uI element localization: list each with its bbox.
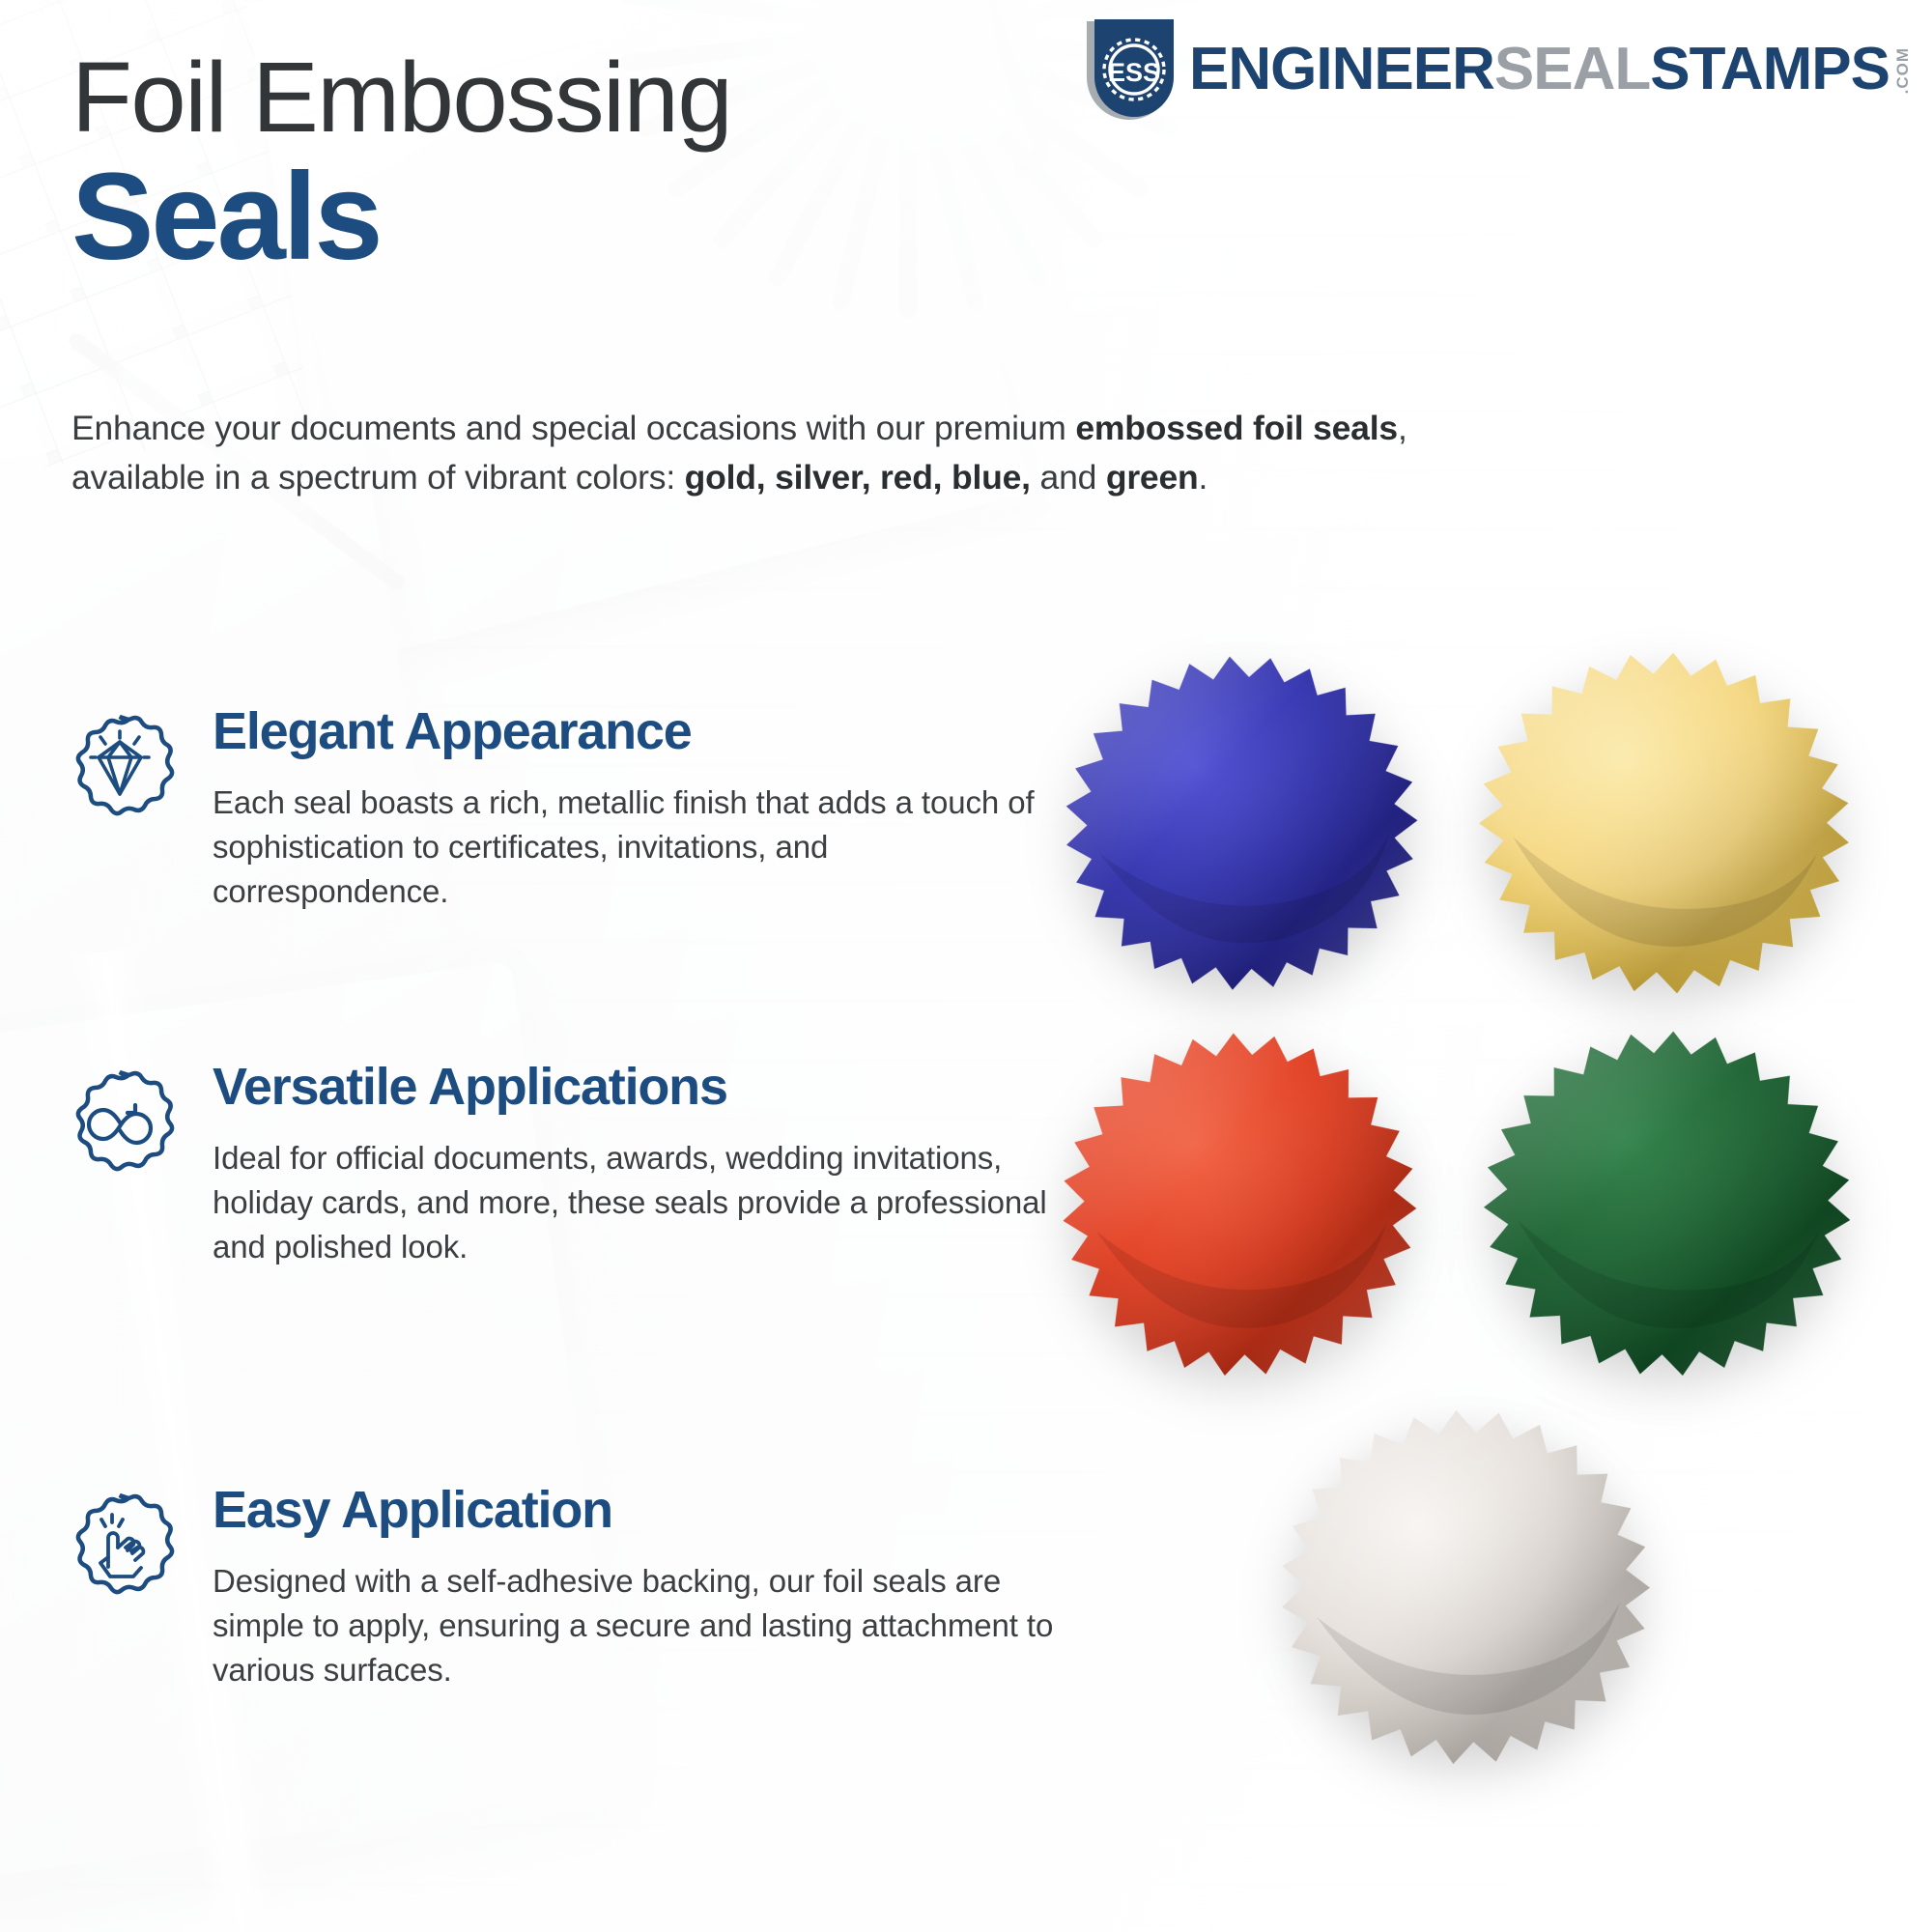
seal-green <box>1470 1017 1865 1390</box>
feature-elegant-appearance: Elegant Appearance Each seal boasts a ri… <box>62 703 1063 914</box>
feature-easy-application: Easy Application Designed with a self-ad… <box>62 1482 1063 1692</box>
subtitle: Enhance your documents and special occas… <box>71 404 1443 502</box>
headline-line-1: Foil Embossing <box>71 44 731 150</box>
diamond-icon <box>62 703 187 914</box>
ess-shield-icon: ESS <box>1083 17 1176 122</box>
infinity-arrow-icon <box>62 1059 187 1269</box>
logo-word-engineer: ENGINEER <box>1189 42 1494 97</box>
feature-text: Ideal for official documents, awards, we… <box>213 1136 1063 1269</box>
subtitle-part-3: and <box>1031 458 1106 497</box>
subtitle-part-4: . <box>1199 458 1208 497</box>
feature-text: Designed with a self-adhesive backing, o… <box>213 1559 1063 1692</box>
svg-text:ESS: ESS <box>1108 58 1160 87</box>
logo-word-seal: SEAL <box>1494 42 1650 97</box>
subtitle-bold-3: green <box>1106 458 1199 497</box>
subtitle-part-1: Enhance your documents and special occas… <box>71 409 1075 447</box>
feature-title: Versatile Applications <box>213 1061 1063 1113</box>
brand-logo[interactable]: ESS ENGINEER SEAL STAMPS .COM <box>1083 17 1913 122</box>
subtitle-bold-1: embossed foil seals <box>1075 409 1398 447</box>
feature-title: Elegant Appearance <box>213 705 1063 757</box>
page-title: Foil Embossing Seals <box>71 44 731 279</box>
hand-tap-icon <box>62 1482 187 1692</box>
seal-silver <box>1264 1393 1666 1781</box>
feature-title: Easy Application <box>213 1484 1063 1536</box>
headline-line-2: Seals <box>71 156 731 279</box>
logo-tld: .COM <box>1893 47 1913 94</box>
logo-word-stamps: STAMPS <box>1650 42 1889 97</box>
seal-red <box>1049 1019 1431 1389</box>
feature-text: Each seal boasts a rich, metallic finish… <box>213 781 1063 914</box>
feature-versatile-applications: Versatile Applications Ideal for officia… <box>62 1059 1063 1269</box>
seal-blue <box>1046 637 1436 1009</box>
seal-gold <box>1463 636 1867 1010</box>
subtitle-bold-2: gold, silver, red, blue, <box>685 458 1031 497</box>
